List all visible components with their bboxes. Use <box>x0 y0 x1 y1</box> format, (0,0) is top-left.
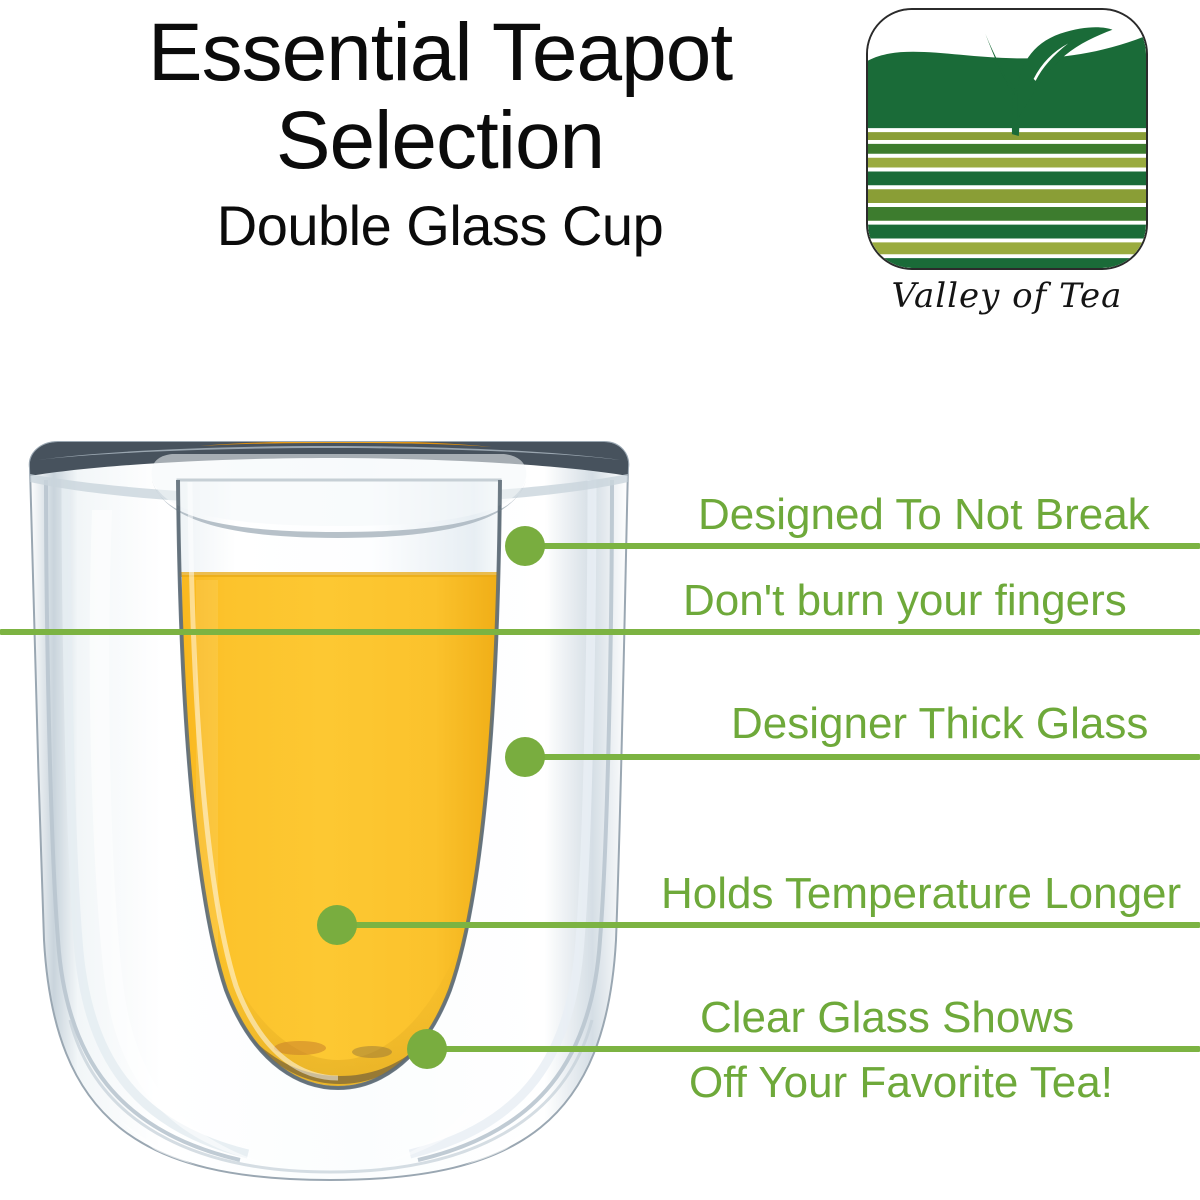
callout-line-designer-thick-glass <box>540 754 1200 760</box>
callout-dot-designed-to-not-break[interactable] <box>505 526 545 566</box>
callout-line-holds-temperature-longer <box>352 922 1200 928</box>
callout-line-clear-glass-shows <box>442 1046 1200 1052</box>
callout-dot-clear-glass-shows[interactable] <box>407 1029 447 1069</box>
logo-caption: Valley of Tea <box>866 276 1148 316</box>
brand-logo: Valley of Tea <box>866 8 1156 328</box>
callout-label-designed-to-not-break: Designed To Not Break <box>698 489 1150 541</box>
logo-badge <box>866 8 1148 270</box>
page-subtitle: Double Glass Cup <box>40 196 840 256</box>
callout-line-designed-to-not-break <box>540 543 1200 549</box>
callout-label-designer-thick-glass: Designer Thick Glass <box>731 698 1148 750</box>
callout-dot-holds-temperature-longer[interactable] <box>317 905 357 945</box>
callout-label-holds-temperature-longer: Holds Temperature Longer <box>661 868 1181 920</box>
product-image-double-wall-glass-cup <box>0 420 660 1200</box>
callout-line-dont-burn-your-fingers <box>0 629 1200 635</box>
page-title-line-2: Selection <box>40 100 840 182</box>
callout-dot-designer-thick-glass[interactable] <box>505 737 545 777</box>
callout-label-off-your-favorite-tea: Off Your Favorite Tea! <box>689 1057 1113 1109</box>
header-title-block: Essential Teapot Selection Double Glass … <box>40 12 840 256</box>
callout-label-dont-burn-your-fingers: Don't burn your fingers <box>683 575 1127 627</box>
logo-artwork <box>868 10 1146 268</box>
glass-cup-illustration <box>0 420 660 1200</box>
infographic-canvas: Essential Teapot Selection Double Glass … <box>0 0 1200 1200</box>
page-title-line-1: Essential Teapot <box>40 12 840 94</box>
callout-label-clear-glass-shows: Clear Glass Shows <box>700 992 1074 1044</box>
